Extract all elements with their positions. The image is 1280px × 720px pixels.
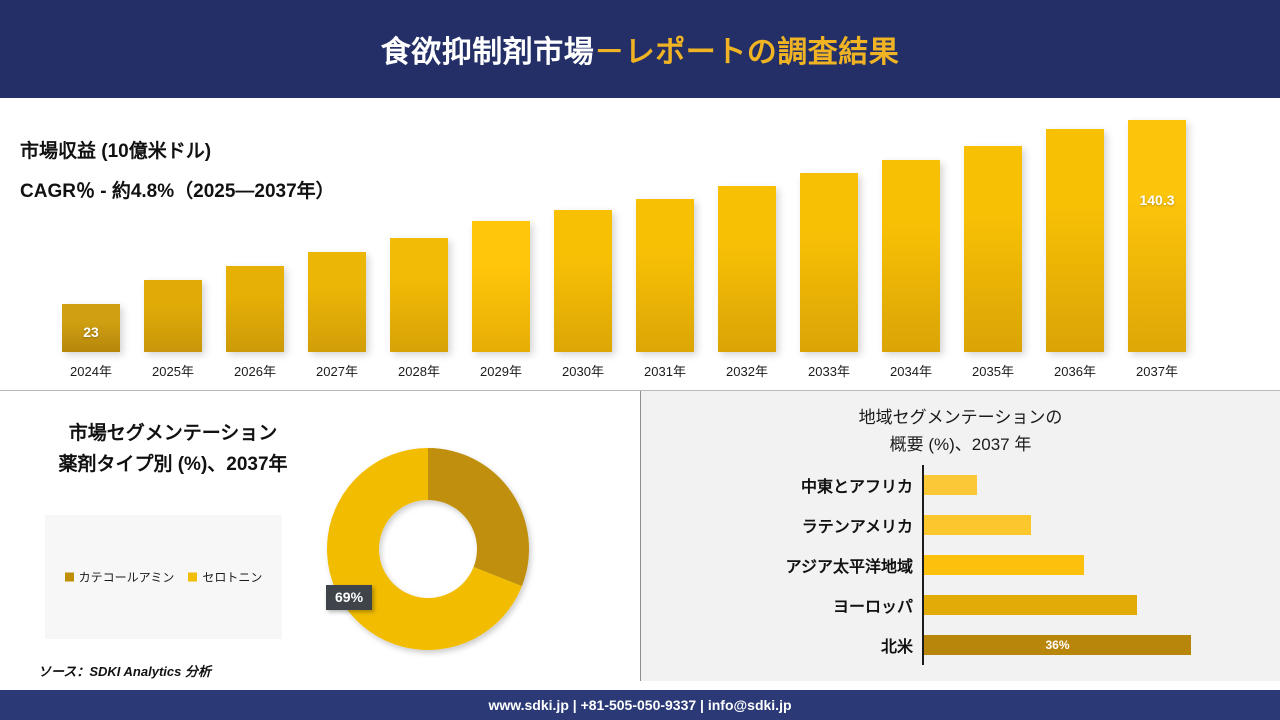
column-category-label: 2025年 xyxy=(136,361,210,380)
column-bar: 2031年 xyxy=(636,199,694,352)
column-category-label: 2029年 xyxy=(464,361,538,380)
region-title-line2: 概要 (%)、2037 年 xyxy=(641,431,1280,458)
column-bar: 2028年 xyxy=(390,238,448,352)
column-category-label: 2026年 xyxy=(218,361,292,380)
region-bar xyxy=(924,475,977,495)
donut-svg xyxy=(296,417,560,681)
column-group: 2031年 xyxy=(636,199,694,352)
column-bar: 2032年 xyxy=(718,186,776,352)
region-bar-row: ヨーロッパ xyxy=(641,585,1280,625)
legend-item[interactable]: セロトニン xyxy=(188,569,262,586)
region-bar xyxy=(924,515,1031,535)
slide-footer: www.sdki.jp | +81-505-050-9337 | info@sd… xyxy=(0,690,1280,720)
column-bar: 2036年 xyxy=(1046,129,1104,352)
column-group: 2036年 xyxy=(1046,129,1104,352)
segmentation-title-line2: 薬剤タイプ別 (%)、2037年 xyxy=(28,449,318,480)
region-bar-label: 北米 xyxy=(881,633,913,657)
revenue-section: 市場収益 (10億米ドル) CAGR％ - 約4.8%（2025―2037年） … xyxy=(0,98,1280,390)
column-value-label: 23 xyxy=(62,324,120,340)
region-bar-row: アジア太平洋地域 xyxy=(641,545,1280,585)
region-bar: 36% xyxy=(924,635,1191,655)
segmentation-title: 市場セグメンテーション 薬剤タイプ別 (%)、2037年 xyxy=(28,418,318,480)
page-title-main: 食欲抑制剤市場 xyxy=(381,36,595,69)
column-group: 2034年 xyxy=(882,160,940,352)
column-group: 140.32037年 xyxy=(1128,120,1186,352)
column-group: 2032年 xyxy=(718,186,776,352)
legend-swatch-icon xyxy=(188,573,197,582)
region-bar-label: ヨーロッパ xyxy=(833,593,913,617)
segmentation-legend-box: カテコールアミンセロトニン xyxy=(45,515,282,639)
column-bar: 140.32037年 xyxy=(1128,120,1186,352)
column-bar: 2025年 xyxy=(144,280,202,352)
legend-item-label: カテコールアミン xyxy=(79,569,175,586)
page-title-sub: －レポートの調査結果 xyxy=(594,36,899,69)
drug-type-donut-chart: 69% xyxy=(296,417,560,681)
column-group: 2033年 xyxy=(800,173,858,352)
column-category-label: 2036年 xyxy=(1038,361,1112,380)
column-category-label: 2037年 xyxy=(1120,361,1194,380)
column-category-label: 2031年 xyxy=(628,361,702,380)
region-bar-row: 中東とアフリカ xyxy=(641,465,1280,505)
donut-value-label: 69% xyxy=(326,585,372,610)
column-category-label: 2032年 xyxy=(710,361,784,380)
column-group: 2035年 xyxy=(964,146,1022,352)
page-title: 食欲抑制剤市場－レポートの調査結果 xyxy=(381,27,900,71)
footer-contact: www.sdki.jp | +81-505-050-9337 | info@sd… xyxy=(488,697,791,713)
region-bar xyxy=(924,595,1137,615)
region-panel: 地域セグメンテーションの 概要 (%)、2037 年 中東とアフリカラテンアメリ… xyxy=(641,391,1280,681)
region-bar-chart: 中東とアフリカラテンアメリカアジア太平洋地域ヨーロッパ北米36% xyxy=(641,465,1280,665)
legend-swatch-icon xyxy=(65,573,74,582)
region-bar-row: 北米36% xyxy=(641,625,1280,665)
column-bar: 2035年 xyxy=(964,146,1022,352)
segmentation-title-line1: 市場セグメンテーション xyxy=(28,418,318,449)
column-value-label: 140.3 xyxy=(1128,192,1186,208)
column-group: 2030年 xyxy=(554,210,612,352)
column-category-label: 2027年 xyxy=(300,361,374,380)
region-title-line1: 地域セグメンテーションの xyxy=(641,404,1280,431)
column-bar: 2034年 xyxy=(882,160,940,352)
revenue-column-chart: 232024年2025年2026年2027年2028年2029年2030年203… xyxy=(0,98,1280,390)
region-bar-row: ラテンアメリカ xyxy=(641,505,1280,545)
column-bar: 2033年 xyxy=(800,173,858,352)
column-bar: 2027年 xyxy=(308,252,366,352)
column-group: 2029年 xyxy=(472,221,530,352)
slide-header: 食欲抑制剤市場－レポートの調査結果 xyxy=(0,0,1280,98)
legend-item[interactable]: カテコールアミン xyxy=(65,569,175,586)
source-note: ソース：SDKI Analytics 分析 xyxy=(38,661,211,680)
column-group: 2026年 xyxy=(226,266,284,352)
column-category-label: 2035年 xyxy=(956,361,1030,380)
region-bar-label: 中東とアフリカ xyxy=(801,473,913,497)
column-group: 2027年 xyxy=(308,252,366,352)
column-category-label: 2033年 xyxy=(792,361,866,380)
region-bar-label: アジア太平洋地域 xyxy=(786,553,913,577)
legend-item-label: セロトニン xyxy=(202,569,262,586)
column-category-label: 2034年 xyxy=(874,361,948,380)
column-bar: 2026年 xyxy=(226,266,284,352)
region-bar-value-label: 36% xyxy=(924,635,1191,655)
region-bar-label: ラテンアメリカ xyxy=(802,513,913,537)
segmentation-panel: 市場セグメンテーション 薬剤タイプ別 (%)、2037年 カテコールアミンセロト… xyxy=(0,391,640,681)
column-bar: 2030年 xyxy=(554,210,612,352)
column-category-label: 2024年 xyxy=(54,361,128,380)
slide-root: 食欲抑制剤市場－レポートの調査結果 市場収益 (10億米ドル) CAGR％ - … xyxy=(0,0,1280,720)
column-group: 2028年 xyxy=(390,238,448,352)
region-title: 地域セグメンテーションの 概要 (%)、2037 年 xyxy=(641,404,1280,458)
region-bar xyxy=(924,555,1084,575)
column-group: 232024年 xyxy=(62,304,120,352)
column-bar: 2029年 xyxy=(472,221,530,352)
donut-slice-catecholamine xyxy=(428,448,529,586)
segmentation-legend: カテコールアミンセロトニン xyxy=(45,569,282,586)
column-category-label: 2030年 xyxy=(546,361,620,380)
column-group: 2025年 xyxy=(144,280,202,352)
donut-segments xyxy=(327,448,529,650)
column-bar: 232024年 xyxy=(62,304,120,352)
column-category-label: 2028年 xyxy=(382,361,456,380)
